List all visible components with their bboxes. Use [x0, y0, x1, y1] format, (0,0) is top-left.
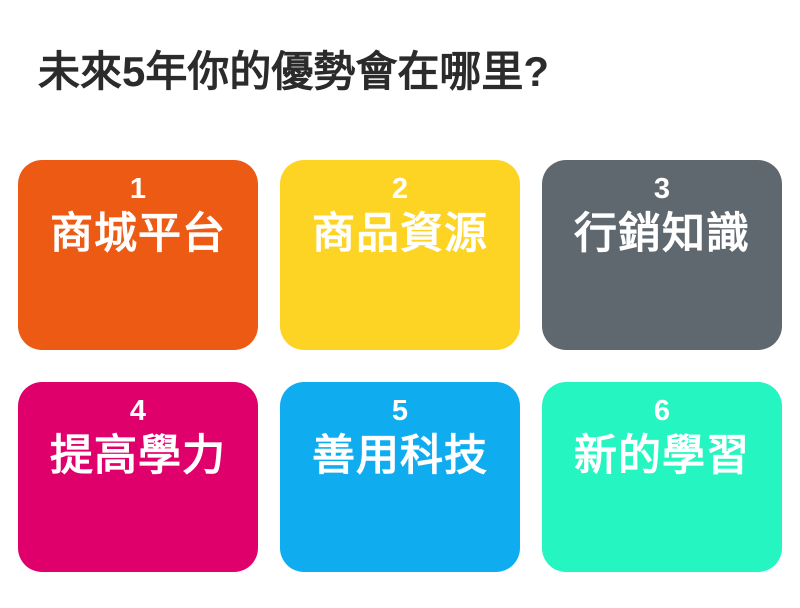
card-number: 2 [280, 172, 520, 206]
card-3-marketing-knowledge[interactable]: 3 行銷知識 [542, 160, 782, 350]
card-2-product-resources[interactable]: 2 商品資源 [280, 160, 520, 350]
card-number: 4 [18, 394, 258, 428]
slide-canvas: 未來5年你的優勢會在哪里? 1 商城平台 2 商品資源 3 行銷知識 4 提高學… [0, 0, 800, 608]
card-label: 行銷知識 [542, 208, 782, 260]
card-label: 商城平台 [18, 208, 258, 260]
card-label: 商品資源 [280, 208, 520, 260]
card-number: 5 [280, 394, 520, 428]
card-number: 1 [18, 172, 258, 206]
card-label: 新的學習 [542, 430, 782, 482]
card-label: 善用科技 [280, 430, 520, 482]
page-title: 未來5年你的優勢會在哪里? [38, 44, 762, 100]
card-5-use-technology[interactable]: 5 善用科技 [280, 382, 520, 572]
card-grid: 1 商城平台 2 商品資源 3 行銷知識 4 提高學力 5 善用科技 6 新的學… [18, 160, 782, 572]
card-label: 提高學力 [18, 430, 258, 482]
card-number: 3 [542, 172, 782, 206]
card-6-new-learning[interactable]: 6 新的學習 [542, 382, 782, 572]
card-4-improve-learning[interactable]: 4 提高學力 [18, 382, 258, 572]
card-number: 6 [542, 394, 782, 428]
card-1-mall-platform[interactable]: 1 商城平台 [18, 160, 258, 350]
